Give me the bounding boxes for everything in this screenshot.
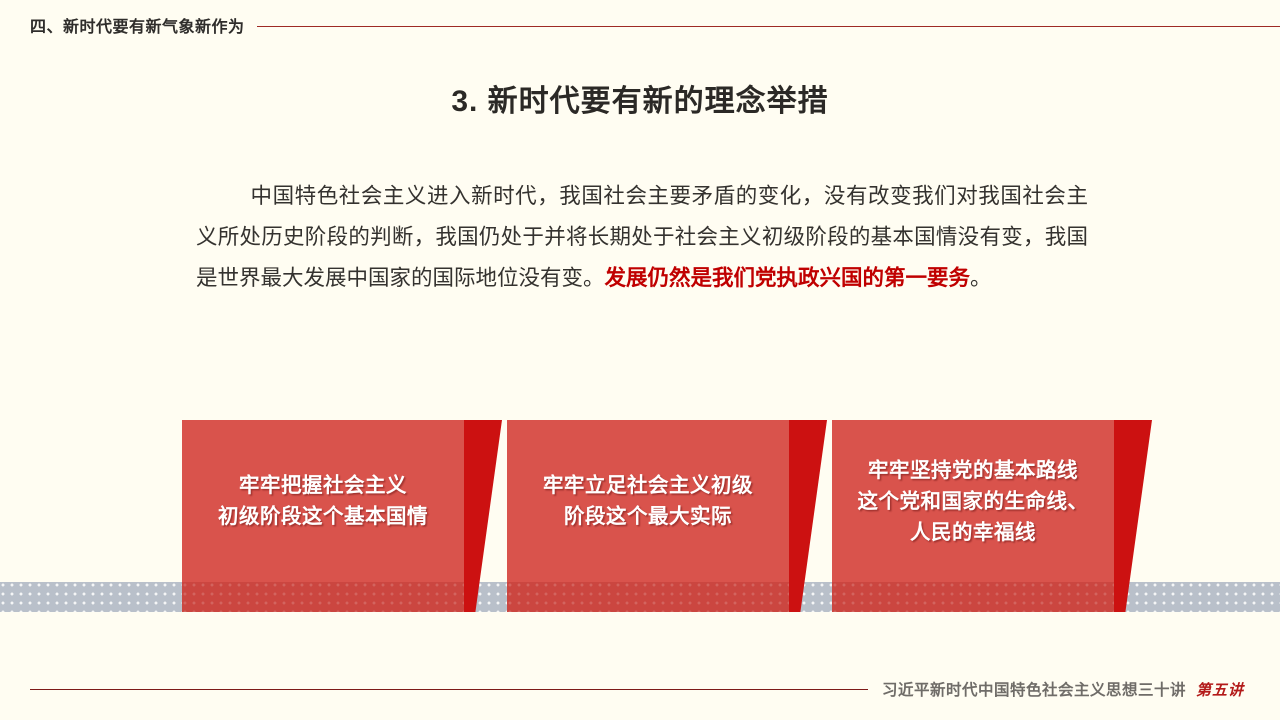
callout-box-3-wedge: [1114, 420, 1152, 612]
callout-box-3-line-3: 人民的幸福线: [858, 517, 1089, 548]
page-title: 3. 新时代要有新的理念举措: [0, 76, 1280, 120]
callout-box-group: 牢牢把握社会主义 初级阶段这个基本国情 牢牢立足社会主义初级 阶段这个最大实际: [0, 420, 1280, 612]
slide-root: 四、新时代要有新气象新作为 3. 新时代要有新的理念举措 中国特色社会主义进入新…: [0, 0, 1280, 720]
footer-book-title: 习近平新时代中国特色社会主义思想三十讲: [882, 678, 1186, 700]
callout-box-1-line-1: 牢牢把握社会主义: [218, 470, 428, 501]
section-label: 四、新时代要有新气象新作为: [30, 13, 245, 37]
callout-box-3-line-1: 牢牢坚持党的基本路线: [858, 455, 1089, 486]
callout-box-1[interactable]: 牢牢把握社会主义 初级阶段这个基本国情: [182, 420, 502, 612]
callout-box-2-line-2: 阶段这个最大实际: [543, 501, 753, 532]
paragraph-emphasis-text: 发展仍然是我们党执政兴国的第一要务: [605, 266, 971, 290]
callout-box-3[interactable]: 牢牢坚持党的基本路线 这个党和国家的生命线、 人民的幸福线: [832, 420, 1152, 612]
callout-box-2-line-1: 牢牢立足社会主义初级: [543, 470, 753, 501]
callout-box-3-label: 牢牢坚持党的基本路线 这个党和国家的生命线、 人民的幸福线: [832, 420, 1114, 582]
callout-box-1-label: 牢牢把握社会主义 初级阶段这个基本国情: [182, 420, 464, 582]
callout-box-2[interactable]: 牢牢立足社会主义初级 阶段这个最大实际: [507, 420, 827, 612]
callout-box-2-wedge: [789, 420, 827, 612]
callout-box-1-wedge: [464, 420, 502, 612]
footer-lecture-seal: 第五讲: [1196, 679, 1244, 700]
paragraph-tail-text: 。: [970, 266, 992, 290]
header-divider-line: [257, 26, 1280, 27]
slide-footer: 习近平新时代中国特色社会主义思想三十讲 第五讲: [0, 676, 1280, 702]
body-paragraph: 中国特色社会主义进入新时代，我国社会主要矛盾的变化，没有改变我们对我国社会主义所…: [196, 176, 1088, 299]
callout-box-1-line-2: 初级阶段这个基本国情: [218, 501, 428, 532]
footer-divider-line: [30, 689, 868, 690]
callout-box-2-label: 牢牢立足社会主义初级 阶段这个最大实际: [507, 420, 789, 582]
slide-header: 四、新时代要有新气象新作为: [0, 10, 1280, 40]
callout-box-3-line-2: 这个党和国家的生命线、: [858, 486, 1089, 517]
